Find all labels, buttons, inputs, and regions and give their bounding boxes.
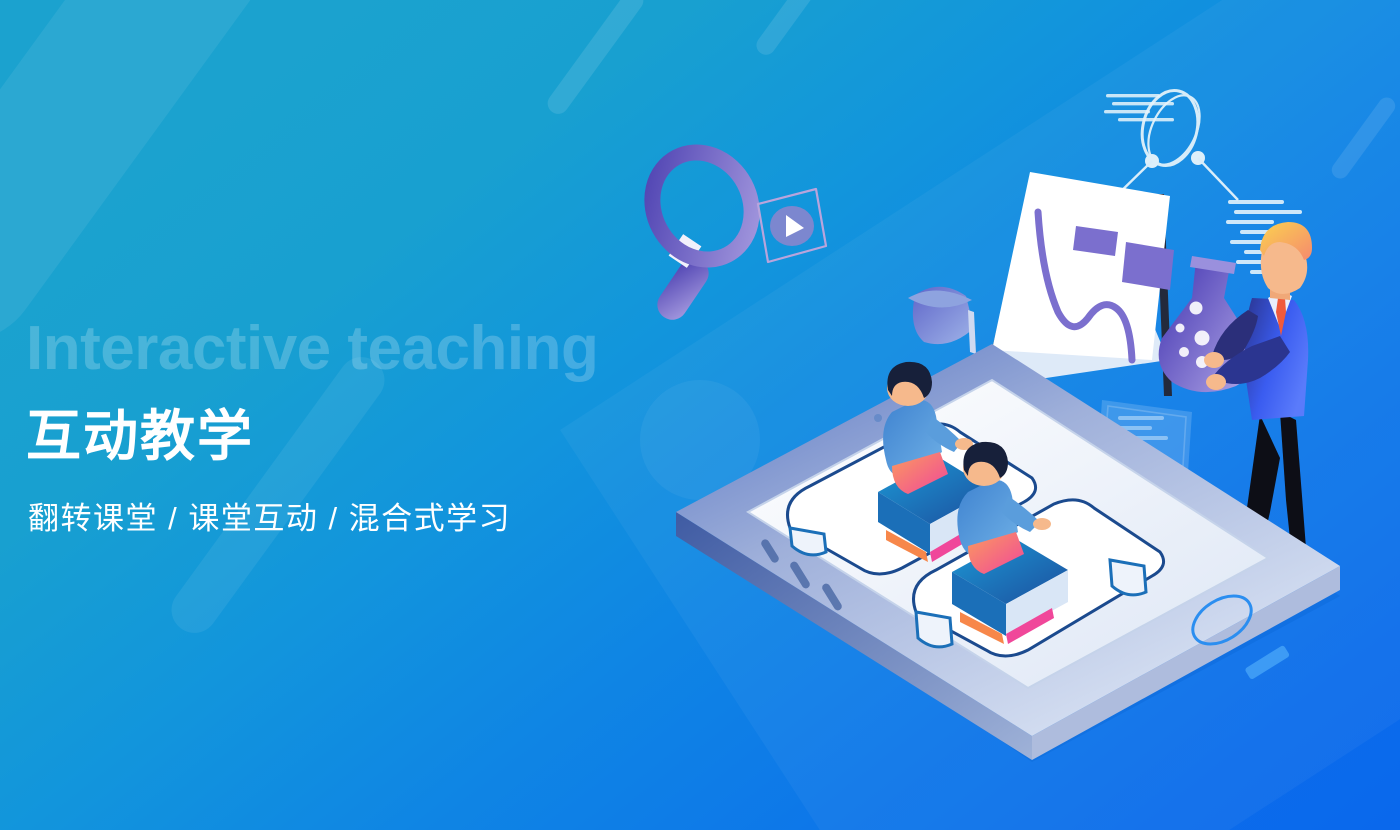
page-subtitle: 翻转课堂 / 课堂互动 / 混合式学习 xyxy=(28,493,746,538)
hero-banner: Interactive teaching 互动教学 翻转课堂 / 课堂互动 / … xyxy=(0,0,1400,830)
tablet-accent-strip xyxy=(1244,645,1290,680)
hero-illustration xyxy=(640,60,1400,830)
hero-copy: Interactive teaching 互动教学 翻转课堂 / 课堂互动 / … xyxy=(26,318,746,538)
play-button-icon[interactable] xyxy=(758,189,826,262)
tablet-device[interactable] xyxy=(676,344,1340,762)
page-title: 互动教学 xyxy=(26,408,746,466)
atom-orbit-icon xyxy=(1112,85,1238,200)
background-bar-small-2 xyxy=(753,0,837,59)
magnifier-icon xyxy=(640,135,770,326)
ghost-title: Interactive teaching xyxy=(26,318,746,380)
graduation-cap-icon xyxy=(908,287,976,354)
background-bar-small-1 xyxy=(544,0,648,118)
